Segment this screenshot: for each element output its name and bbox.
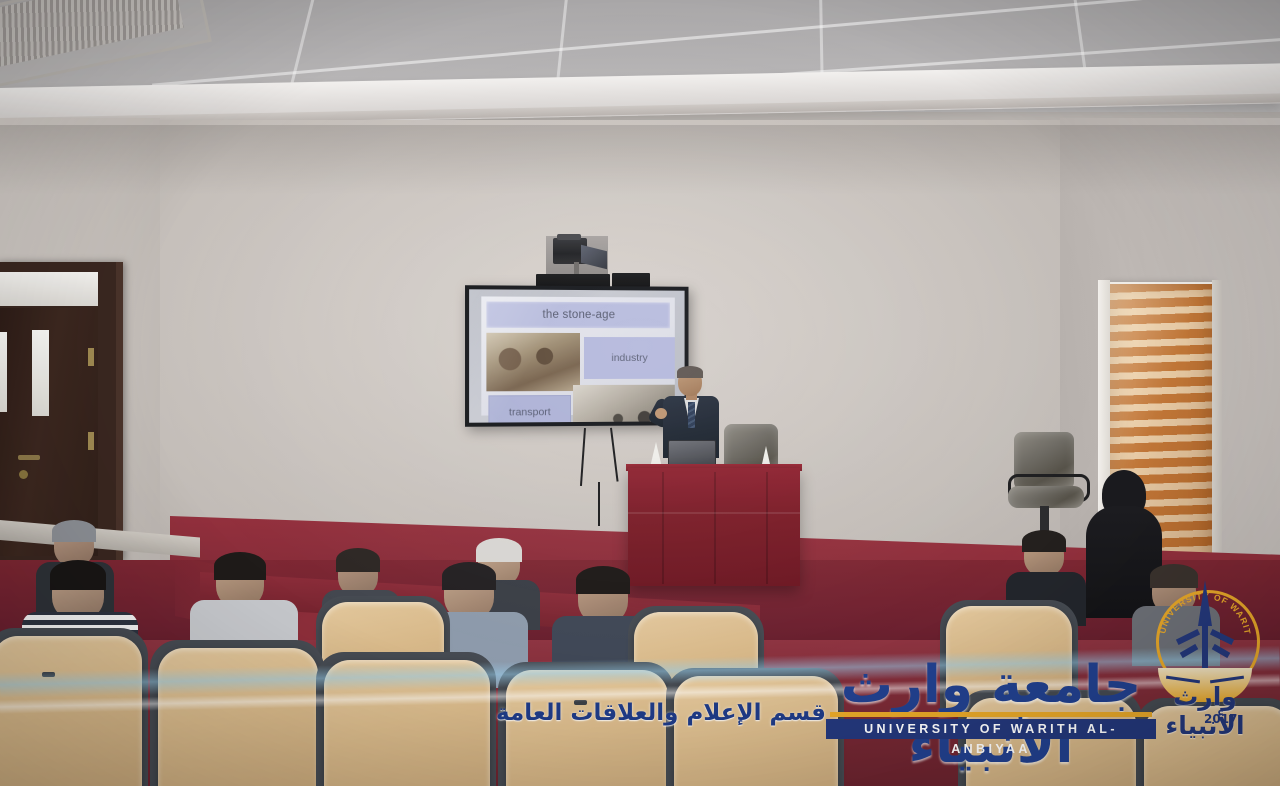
department-watermark-text: قسم الإعلام والعلاقات العامة [426, 700, 826, 734]
attendee-hair [214, 552, 266, 580]
auditorium-seat[interactable] [0, 636, 142, 786]
presenter-hand [655, 408, 667, 419]
attendee-hair [442, 562, 496, 590]
presenter-hair [677, 366, 703, 378]
wall-shading [0, 125, 1280, 195]
logo-pen-nib-icon [1198, 580, 1212, 626]
door-glass-panel [32, 330, 49, 416]
logo-pen-shaft-icon [1202, 622, 1208, 674]
slide-title: the stone-age [486, 302, 670, 329]
door-hinge [88, 432, 94, 450]
cloth-fold [714, 472, 716, 584]
cloth-fold [662, 472, 664, 584]
window-jamb [1212, 280, 1222, 580]
cloth-fold [766, 472, 768, 584]
presenter-table [628, 468, 800, 586]
projector-top [557, 234, 581, 240]
university-name-arabic: جامعة وارث الأنبياء [826, 655, 1156, 717]
screen-surface: the stone-age industry transport [469, 289, 684, 422]
transport-label: transport [488, 395, 571, 423]
door-lock[interactable] [19, 470, 28, 479]
attendee-hair [336, 548, 380, 572]
slide-content-grid: industry transport [486, 333, 670, 411]
attendee-hair [576, 566, 630, 594]
attendee-hair [50, 560, 106, 590]
speaker-bar-right [612, 273, 650, 287]
attendee-hair [1022, 530, 1066, 552]
university-name-english: UNIVERSITY OF WARITH AL-ANBIYAA [826, 719, 1156, 739]
cable [598, 482, 600, 526]
presentation-slide: the stone-age industry transport [481, 296, 675, 415]
attendee-hair [476, 538, 522, 562]
watermark-underline [830, 712, 1152, 717]
door-handle[interactable] [18, 455, 40, 460]
attendee-hair [52, 520, 96, 542]
seat-notch [42, 672, 55, 677]
lecture-hall-photo: the stone-age industry transport [0, 0, 1280, 786]
logo-name-arabic: وارث الأنبياء [1142, 682, 1268, 740]
door-transom-window [0, 272, 98, 306]
wrapped-chair-seat [1008, 486, 1084, 508]
industry-label: industry [584, 337, 675, 379]
door-hinge [88, 348, 94, 366]
logo-year: 2017 [1204, 712, 1237, 726]
entrance-door[interactable] [0, 308, 98, 556]
presenter-tie [688, 402, 695, 428]
cave-painting-image [486, 333, 580, 392]
university-logo: UNIVERSITY OF WARITH AL-ANBIYAA وارث الأ… [1142, 572, 1268, 734]
auditorium-seat[interactable] [158, 648, 318, 786]
door-glass-panel [0, 332, 7, 412]
